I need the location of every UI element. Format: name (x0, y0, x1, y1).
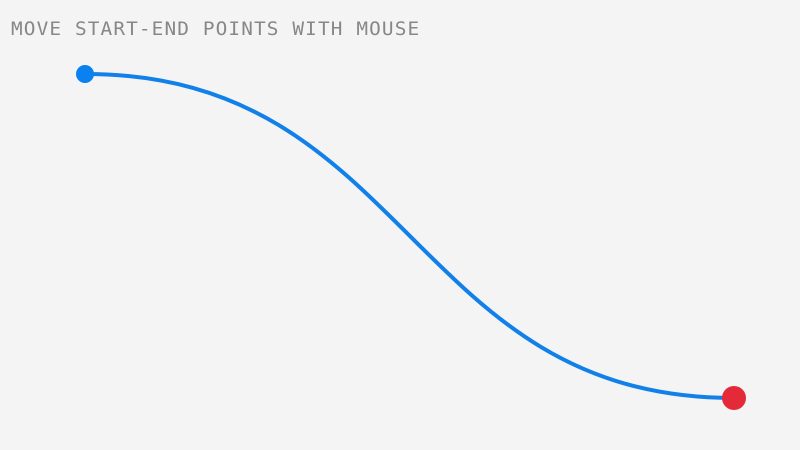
start-point-handle[interactable] (76, 65, 94, 83)
end-point-handle[interactable] (722, 386, 746, 410)
bezier-curve-path (85, 74, 734, 398)
canvas-stage[interactable]: MOVE START-END POINTS WITH MOUSE (0, 0, 800, 450)
bezier-canvas[interactable] (0, 0, 800, 450)
